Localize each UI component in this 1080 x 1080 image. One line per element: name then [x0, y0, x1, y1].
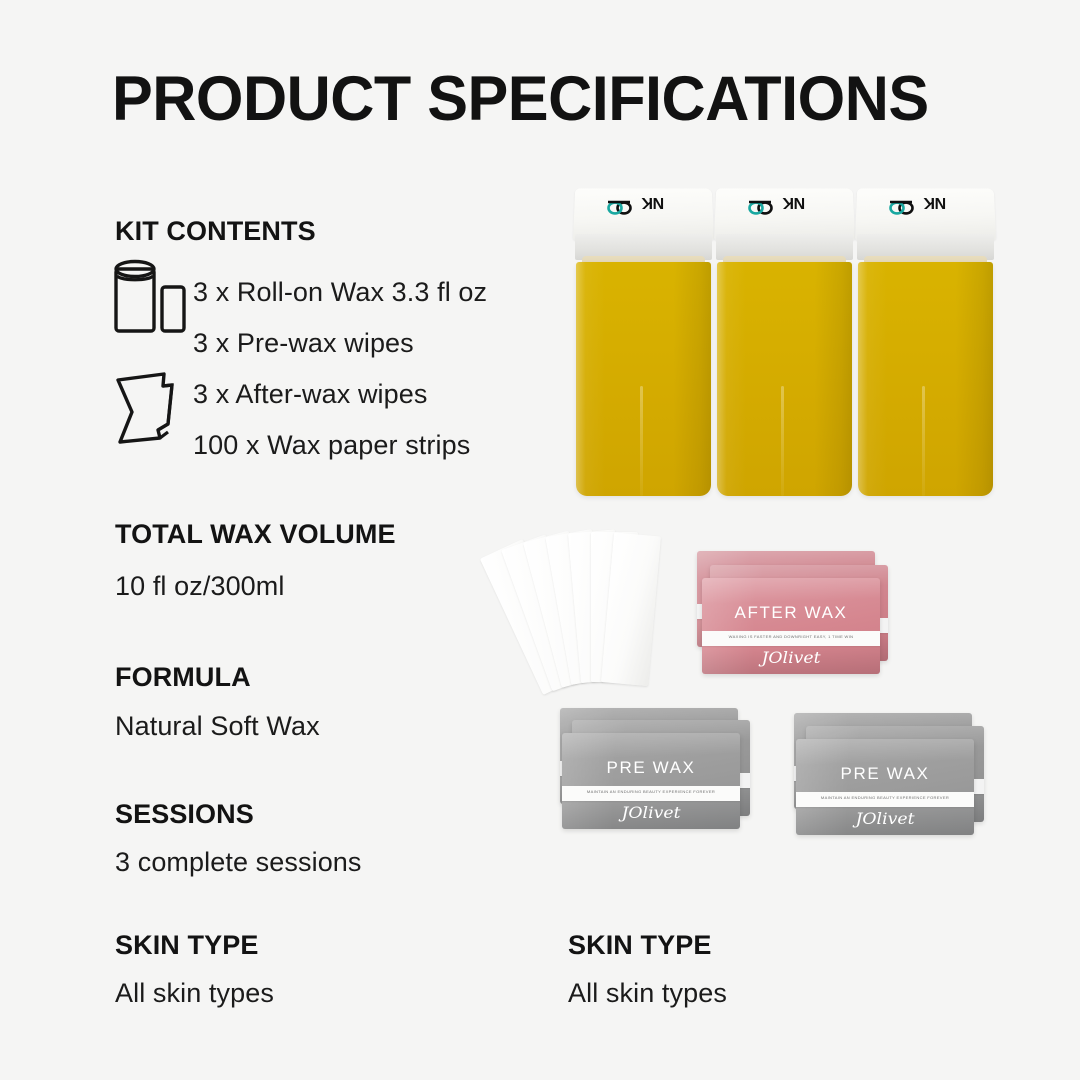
- product-specifications-page: PRODUCT SPECIFICATIONS KIT CONTENTS 3 x …: [0, 0, 1080, 1080]
- wax-strips-icon: [110, 362, 194, 453]
- sachet-sheen: [806, 726, 984, 822]
- sachet-sheen: [794, 713, 972, 809]
- pre-wax-sachet: [794, 713, 972, 809]
- kit-contents-heading: KIT CONTENTS: [115, 218, 316, 245]
- kit-item-4: 100 x Wax paper strips: [193, 432, 470, 459]
- cartridge-cap: [573, 188, 714, 240]
- paper-strip: [591, 532, 638, 682]
- paper-strip: [545, 529, 617, 685]
- sachet-sheen: [560, 708, 738, 804]
- sachet-band: WAXING IS FASTER AND DOWNRIGHT EASY, 1 T…: [702, 631, 880, 646]
- cartridge-cap: [855, 188, 996, 240]
- pre-wax-band-text: MAINTAIN AN ENDURING BEAUTY EXPERIENCE F…: [562, 790, 740, 794]
- skin-type-left-heading: SKIN TYPE: [115, 932, 258, 959]
- cartridge-cap-band: [716, 234, 853, 260]
- sessions-heading: SESSIONS: [115, 801, 254, 828]
- brand-logo-icon: [606, 195, 632, 215]
- after-wax-sachet: [710, 565, 888, 661]
- pre-wax-sachet: [806, 726, 984, 822]
- paper-strip: [523, 531, 607, 688]
- sachet-sheen: [710, 565, 888, 661]
- formula-value: Natural Soft Wax: [115, 713, 320, 740]
- cartridge-wax-body: [576, 262, 711, 496]
- kit-item-1: 3 x Roll-on Wax 3.3 fl oz: [193, 279, 487, 306]
- pre-wax-signature: JOlivet: [796, 811, 974, 827]
- brand-logo-icon: [888, 195, 914, 215]
- cartridge-cap-band: [857, 234, 994, 260]
- sachet-band: MAINTAIN AN ENDURING BEAUTY EXPERIENCE F…: [796, 792, 974, 807]
- cartridge-cap: [714, 188, 855, 240]
- pre-wax-sachet: [560, 708, 738, 804]
- formula-heading: FORMULA: [115, 664, 251, 691]
- pre-wax-signature: JOlivet: [562, 805, 740, 821]
- sachet-band: [697, 604, 875, 619]
- sachet-sheen: [572, 720, 750, 816]
- kit-item-3: 3 x After-wax wipes: [193, 381, 428, 408]
- sachet-band: [572, 773, 750, 788]
- sachet-band: [560, 761, 738, 776]
- sachet-sheen: [796, 739, 974, 835]
- skin-type-left-value: All skin types: [115, 980, 274, 1007]
- skin-type-right-heading: SKIN TYPE: [568, 932, 711, 959]
- paper-strip: [480, 539, 586, 695]
- pre-wax-sachet: [572, 720, 750, 816]
- cartridge-neck: [864, 256, 987, 272]
- paper-strip: [501, 534, 596, 691]
- cartridge-neck: [582, 256, 705, 272]
- cartridge-brand-text: NK: [642, 194, 664, 210]
- pre-wax-sachet-front: PRE WAX MAINTAIN AN ENDURING BEAUTY EXPE…: [796, 739, 974, 835]
- cartridge-neck: [723, 256, 846, 272]
- sachet-sheen: [562, 733, 740, 829]
- skin-type-right-value: All skin types: [568, 980, 727, 1007]
- sessions-value: 3 complete sessions: [115, 849, 362, 876]
- after-wax-sachet-front: AFTER WAX WAXING IS FASTER AND DOWNRIGHT…: [702, 578, 880, 674]
- paper-strip: [601, 532, 661, 686]
- total-wax-volume-heading: TOTAL WAX VOLUME: [115, 521, 396, 548]
- total-wax-volume-value: 10 fl oz/300ml: [115, 573, 285, 600]
- cartridge-wax-body: [717, 262, 852, 496]
- sachet-sheen: [702, 578, 880, 674]
- paper-strip: [568, 529, 628, 683]
- wax-cartridge-icon: [112, 256, 190, 349]
- cartridge-brand-text: NK: [783, 194, 805, 210]
- cartridge-seam: [781, 386, 784, 496]
- cartridge-wax-body: [858, 262, 993, 496]
- kit-item-2: 3 x Pre-wax wipes: [193, 330, 414, 357]
- after-wax-sachet: [697, 551, 875, 647]
- cartridge-seam: [922, 386, 925, 496]
- sachet-band: [806, 779, 984, 794]
- pre-wax-label: PRE WAX: [796, 765, 974, 782]
- cartridge-seam: [640, 386, 643, 496]
- sachet-sheen: [697, 551, 875, 647]
- pre-wax-sachet-front: PRE WAX MAINTAIN AN ENDURING BEAUTY EXPE…: [562, 733, 740, 829]
- cartridge-brand-text: NK: [924, 194, 946, 210]
- pre-wax-label: PRE WAX: [562, 759, 740, 776]
- page-title: PRODUCT SPECIFICATIONS: [112, 68, 929, 131]
- sachet-band: [710, 618, 888, 633]
- sachet-band: [794, 766, 972, 781]
- brand-logo-icon: [747, 195, 773, 215]
- after-wax-band-text: WAXING IS FASTER AND DOWNRIGHT EASY, 1 T…: [702, 635, 880, 639]
- pre-wax-band-text: MAINTAIN AN ENDURING BEAUTY EXPERIENCE F…: [796, 796, 974, 800]
- after-wax-signature: JOlivet: [702, 650, 880, 666]
- after-wax-label: AFTER WAX: [702, 604, 880, 621]
- sachet-band: MAINTAIN AN ENDURING BEAUTY EXPERIENCE F…: [562, 786, 740, 801]
- cartridge-cap-band: [575, 234, 712, 260]
